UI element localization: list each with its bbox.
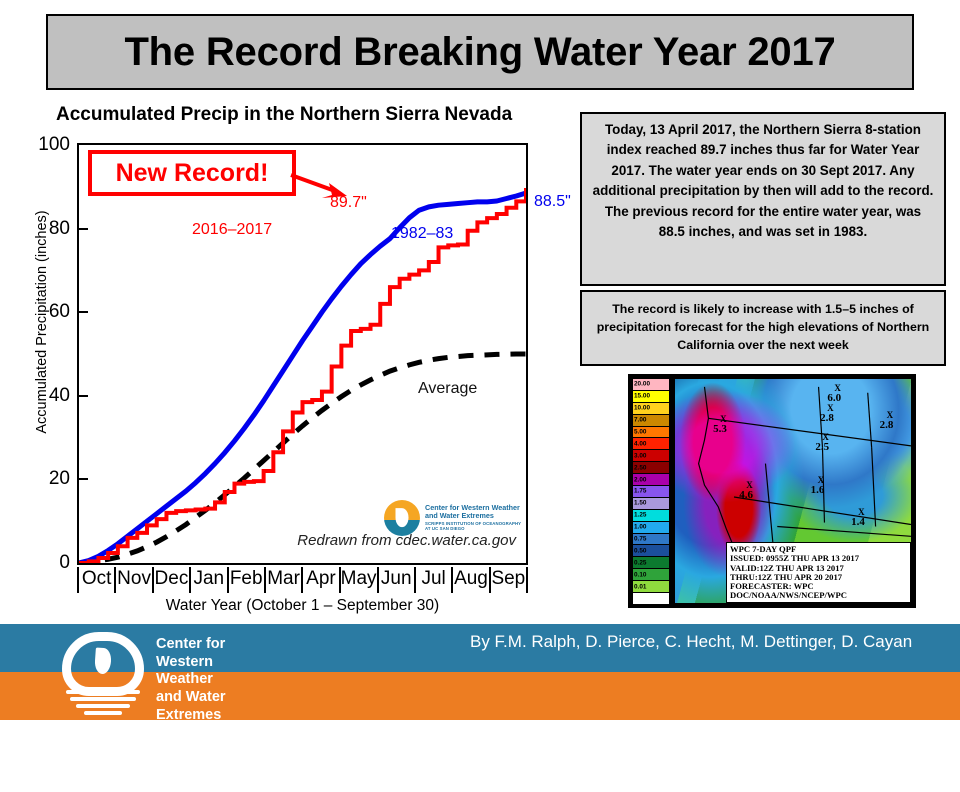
qpf-max-amount: 2.5 bbox=[815, 441, 829, 453]
chart-y-tick-label: 60 bbox=[49, 301, 79, 323]
qpf-max-amount: 4.6 bbox=[739, 489, 753, 501]
qpf-legend-value: 1.00 bbox=[634, 524, 646, 531]
qpf-legend-value: 1.25 bbox=[634, 512, 646, 519]
chart-x-axis-title: Water Year (October 1 – September 30) bbox=[77, 597, 528, 615]
qpf-max-amount: 1.6 bbox=[811, 484, 825, 496]
qpf-max-amount: 1.4 bbox=[851, 516, 865, 528]
qpf-legend-swatch: 0.01 bbox=[633, 581, 669, 593]
qpf-legend-swatch: 2.00 bbox=[633, 474, 669, 486]
chart-y-axis-label: Accumulated Precipitation (inches) bbox=[34, 192, 50, 452]
qpf-legend-value: 0.25 bbox=[634, 559, 646, 566]
qpf-max-value: X5.3 bbox=[713, 415, 727, 435]
chart-x-axis-labels: OctNovDecJanFebMarAprMayJunJulAugSep bbox=[77, 567, 528, 593]
qpf-legend-value: 0.10 bbox=[634, 571, 646, 578]
qpf-legend-swatch: 10.00 bbox=[633, 403, 669, 415]
page-title: The Record Breaking Water Year 2017 bbox=[124, 30, 835, 75]
series-label-2016-2017: 2016–2017 bbox=[192, 221, 272, 239]
chart-x-tick-feb: Feb bbox=[229, 567, 266, 593]
chart-y-tick-mark bbox=[79, 311, 88, 313]
footer-sub-line2: AT UC SAN DIEGO bbox=[156, 770, 229, 791]
qpf-legend-swatch: 0.10 bbox=[633, 569, 669, 581]
chart-x-tick-may: May bbox=[341, 567, 379, 593]
qpf-max-value: X6.0 bbox=[827, 384, 841, 404]
qpf-legend-swatch: 15.00 bbox=[633, 391, 669, 403]
chart-x-tick-oct: Oct bbox=[77, 567, 116, 593]
slide-footer: Center for Western Weather and Water Ext… bbox=[0, 624, 960, 720]
series-end-value-1982-83: 88.5" bbox=[534, 193, 571, 211]
qpf-max-amount: 6.0 bbox=[827, 392, 841, 404]
slide-title-banner: The Record Breaking Water Year 2017 bbox=[46, 14, 914, 90]
chart-x-tick-aug: Aug bbox=[453, 567, 490, 593]
qpf-max-value: X4.6 bbox=[739, 481, 753, 501]
chart-title: Accumulated Precip in the Northern Sierr… bbox=[56, 104, 576, 126]
qpf-legend-swatch: 1.75 bbox=[633, 486, 669, 498]
qpf-max-amount: 2.8 bbox=[820, 412, 834, 424]
chart-y-tick-mark bbox=[79, 395, 88, 397]
qpf-legend-value: 2.50 bbox=[634, 464, 646, 471]
qpf-legend-value: 4.00 bbox=[634, 440, 646, 447]
qpf-max-value: X1.6 bbox=[811, 476, 825, 496]
series-label-1982-83: 1982–83 bbox=[391, 225, 453, 243]
cw3e-sub-line2: AT UC SAN DIEGO bbox=[425, 527, 521, 532]
chart-y-tick-mark bbox=[79, 478, 88, 480]
qpf-legend-value: 1.50 bbox=[634, 500, 646, 507]
qpf-legend-swatch bbox=[633, 593, 669, 605]
forecast-callout-box: The record is likely to increase with 1.… bbox=[580, 290, 946, 366]
qpf-legend-value: 5.00 bbox=[634, 429, 646, 436]
qpf-legend-value: 20.00 bbox=[634, 381, 650, 388]
main-callout-box: Today, 13 April 2017, the Northern Sierr… bbox=[580, 112, 946, 286]
qpf-max-value: X2.5 bbox=[815, 433, 829, 453]
qpf-legend-value: 0.01 bbox=[634, 583, 646, 590]
qpf-max-value: X1.4 bbox=[851, 508, 865, 528]
qpf-legend-value: 7.00 bbox=[634, 417, 646, 424]
qpf-legend-swatch: 1.25 bbox=[633, 510, 669, 522]
chart-x-tick-nov: Nov bbox=[116, 567, 153, 593]
qpf-caption-line: DOC/NOAA/NWS/NCEP/WPC bbox=[730, 591, 907, 600]
cw3e-logo-chart: Center for Western Weather and Water Ext… bbox=[384, 500, 521, 536]
precip-chart: Accumulated Precip in the Northern Sierr… bbox=[8, 104, 574, 616]
qpf-legend-swatch: 4.00 bbox=[633, 438, 669, 450]
qpf-legend-swatch: 1.00 bbox=[633, 522, 669, 534]
qpf-max-amount: 5.3 bbox=[713, 423, 727, 435]
qpf-max-value: X2.8 bbox=[880, 411, 894, 431]
qpf-legend-swatch: 0.50 bbox=[633, 545, 669, 557]
chart-x-tick-jan: Jan bbox=[191, 567, 228, 593]
qpf-legend-swatch: 1.50 bbox=[633, 498, 669, 510]
qpf-legend-value: 15.00 bbox=[634, 393, 650, 400]
qpf-color-legend: 20.0015.0010.007.005.004.003.002.502.001… bbox=[633, 379, 669, 605]
footer-name-line2: and Water Extremes bbox=[156, 689, 229, 724]
chart-x-tick-sep: Sep bbox=[491, 567, 528, 593]
cw3e-name-line2: and Water Extremes bbox=[425, 512, 521, 520]
chart-y-tick-label: 40 bbox=[49, 385, 79, 407]
qpf-legend-swatch: 20.00 bbox=[633, 379, 669, 391]
footer-sub-line1: SCRIPPS INSTITUTION OF OCEANOGRAPHY bbox=[156, 736, 229, 768]
qpf-caption-box: WPC 7-DAY QPFISSUED: 0955Z THU APR 13 20… bbox=[726, 542, 911, 603]
qpf-legend-value: 0.50 bbox=[634, 547, 646, 554]
qpf-legend-value: 0.75 bbox=[634, 536, 646, 543]
chart-plot-area: New Record! 2016–2017 89.7" 1982–83 88.5… bbox=[77, 143, 528, 565]
wpc-qpf-map: 20.0015.0010.007.005.004.003.002.502.001… bbox=[628, 374, 916, 608]
qpf-max-value: X2.8 bbox=[820, 404, 834, 424]
qpf-legend-value: 3.00 bbox=[634, 452, 646, 459]
slide-root: The Record Breaking Water Year 2017 Accu… bbox=[0, 0, 960, 720]
new-record-arrow-icon bbox=[289, 169, 359, 209]
cw3e-flame-icon bbox=[384, 500, 420, 536]
cw3e-flame-icon-footer bbox=[62, 632, 144, 712]
chart-y-tick-label: 80 bbox=[49, 218, 79, 240]
cw3e-logo-footer: Center for Western Weather and Water Ext… bbox=[30, 626, 180, 718]
chart-x-tick-apr: Apr bbox=[303, 567, 340, 593]
chart-x-tick-dec: Dec bbox=[154, 567, 191, 593]
chart-y-tick-label: 100 bbox=[38, 134, 79, 156]
chart-y-tick-label: 20 bbox=[49, 468, 79, 490]
qpf-legend-swatch: 5.00 bbox=[633, 427, 669, 439]
qpf-legend-value: 2.00 bbox=[634, 476, 646, 483]
chart-x-tick-mar: Mar bbox=[266, 567, 303, 593]
qpf-legend-value: 10.00 bbox=[634, 405, 650, 412]
chart-y-tick-mark bbox=[79, 228, 88, 230]
chart-source-note: Redrawn from cdec.water.ca.gov bbox=[297, 532, 516, 549]
qpf-legend-swatch: 7.00 bbox=[633, 415, 669, 427]
chart-x-tick-jun: Jun bbox=[379, 567, 416, 593]
chart-x-tick-jul: Jul bbox=[416, 567, 453, 593]
series-label-average: Average bbox=[418, 380, 477, 398]
qpf-legend-value: 1.75 bbox=[634, 488, 646, 495]
qpf-legend-swatch: 0.75 bbox=[633, 534, 669, 546]
new-record-callout: New Record! bbox=[88, 150, 296, 196]
footer-name-line1: Center for Western Weather bbox=[156, 636, 229, 689]
footer-authors: By F.M. Ralph, D. Pierce, C. Hecht, M. D… bbox=[470, 632, 912, 652]
qpf-legend-swatch: 0.25 bbox=[633, 557, 669, 569]
qpf-max-amount: 2.8 bbox=[880, 419, 894, 431]
qpf-legend-swatch: 2.50 bbox=[633, 462, 669, 474]
qpf-legend-swatch: 3.00 bbox=[633, 450, 669, 462]
